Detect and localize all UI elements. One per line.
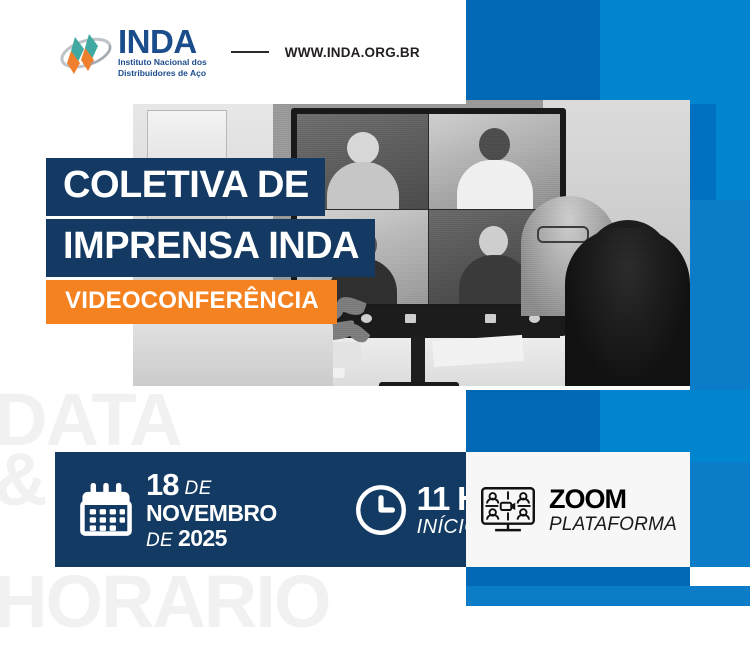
poster-canvas: DATA & HORARIO INDA Instituto Nacional d… — [0, 0, 750, 646]
event-month: NOVEMBRO — [146, 502, 277, 525]
title-line-1: COLETIVA DE — [46, 158, 325, 216]
decor-blue-block-2 — [600, 0, 750, 104]
event-info-bar: 18DE NOVEMBRO DE2025 11 H INÍCIO — [55, 452, 466, 567]
title-subtitle: VIDEOCONFERÊNCIA — [46, 280, 337, 324]
header-divider — [231, 51, 269, 53]
event-year: 2025 — [178, 527, 227, 550]
inda-tagline-line1: Instituto Nacional dos — [118, 58, 207, 68]
decor-blue-block-4 — [716, 104, 750, 200]
clock-icon — [353, 482, 409, 538]
watermark-ampersand: & — [0, 448, 45, 512]
event-de-1: DE — [184, 479, 211, 498]
event-date-group: 18DE NOVEMBRO DE2025 — [55, 469, 277, 550]
inda-wordmark: INDA — [118, 26, 207, 57]
title-line-2: IMPRENSA INDA — [46, 219, 375, 277]
platform-text: ZOOM PLATAFORMA — [549, 486, 677, 534]
inda-logo-text: INDA Instituto Nacional dos Distribuidor… — [118, 26, 207, 79]
event-time-group: 11 H INÍCIO — [311, 482, 481, 538]
event-date-text: 18DE NOVEMBRO DE2025 — [146, 469, 277, 550]
watermark-horario: HORARIO — [0, 570, 329, 634]
inda-logo: INDA Instituto Nacional dos Distribuidor… — [58, 26, 207, 79]
event-date-line-1: 18DE — [146, 469, 277, 500]
platform-name: ZOOM — [549, 486, 677, 513]
inda-tagline-line2: Distribuidores de Aço — [118, 69, 207, 79]
decor-blue-block-1 — [466, 0, 600, 104]
title-block: COLETIVA DE IMPRENSA INDA VIDEOCONFERÊNC… — [46, 158, 375, 324]
platform-label: PLATAFORMA — [549, 515, 677, 534]
calendar-icon — [77, 481, 135, 539]
inda-logo-icon — [58, 29, 114, 75]
event-date-line-3: DE2025 — [146, 527, 277, 550]
platform-box: ZOOM PLATAFORMA — [466, 452, 690, 567]
video-meeting-monitor-icon — [479, 485, 537, 535]
event-de-2: DE — [146, 531, 173, 550]
decor-blue-block-11 — [466, 586, 750, 606]
event-day: 18 — [146, 469, 178, 500]
header-bar: INDA Instituto Nacional dos Distribuidor… — [0, 0, 466, 104]
website-url[interactable]: WWW.INDA.ORG.BR — [285, 45, 420, 60]
decor-blue-block-6 — [690, 200, 750, 390]
decor-blue-block-9 — [690, 462, 750, 567]
